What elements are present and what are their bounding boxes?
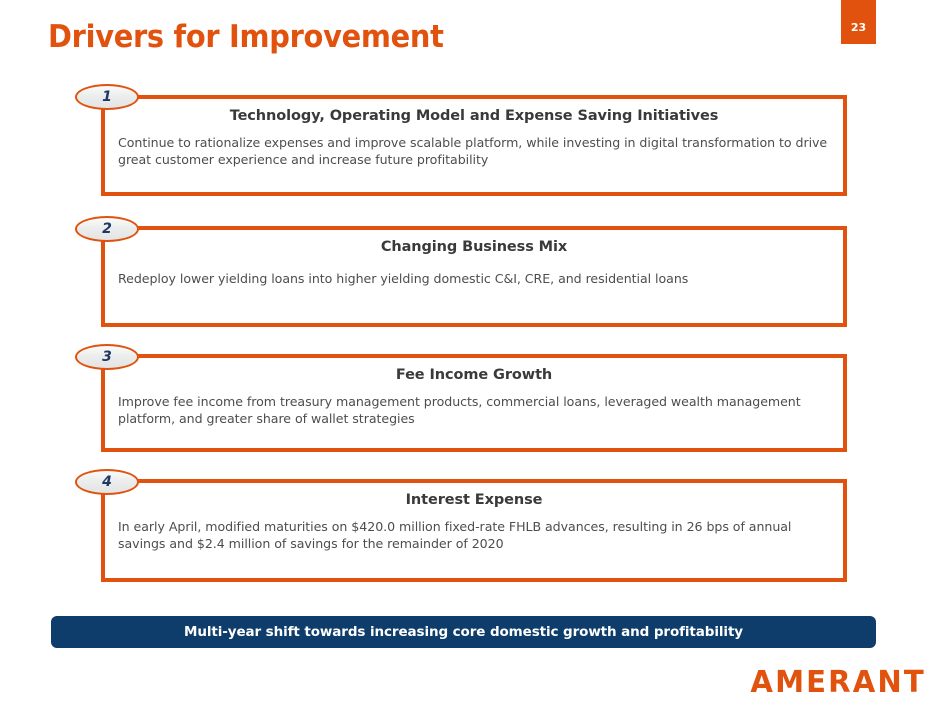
driver-box-1: Technology, Operating Model and Expense … xyxy=(101,95,847,196)
driver-number-oval-4: 4 xyxy=(75,469,139,495)
page-number-label: 23 xyxy=(851,21,866,34)
driver-number-label-4: 4 xyxy=(102,474,112,490)
driver-number-oval-3: 3 xyxy=(75,344,139,370)
driver-body-1: Continue to rationalize expenses and imp… xyxy=(105,135,843,168)
driver-number-oval-2: 2 xyxy=(75,216,139,242)
driver-box-3: Fee Income Growth Improve fee income fro… xyxy=(101,354,847,452)
driver-number-label-1: 1 xyxy=(102,89,112,105)
driver-box-4: Interest Expense In early April, modifie… xyxy=(101,479,847,582)
driver-body-4: In early April, modified maturities on $… xyxy=(105,519,843,552)
driver-number-oval-1: 1 xyxy=(75,84,139,110)
driver-heading-1: Technology, Operating Model and Expense … xyxy=(105,108,843,124)
driver-number-label-3: 3 xyxy=(102,349,112,365)
driver-heading-2: Changing Business Mix xyxy=(105,239,843,255)
driver-body-2: Redeploy lower yielding loans into highe… xyxy=(105,271,843,288)
page-number-badge: 23 xyxy=(841,0,876,44)
amerant-logo: AMERANT xyxy=(751,668,926,698)
driver-number-label-2: 2 xyxy=(102,221,112,237)
summary-banner-label: Multi-year shift towards increasing core… xyxy=(184,624,743,640)
page-title: Drivers for Improvement xyxy=(48,21,444,54)
driver-box-2: Changing Business Mix Redeploy lower yie… xyxy=(101,226,847,327)
driver-body-3: Improve fee income from treasury managem… xyxy=(105,394,843,427)
summary-banner: Multi-year shift towards increasing core… xyxy=(51,616,876,648)
driver-heading-4: Interest Expense xyxy=(105,492,843,508)
driver-heading-3: Fee Income Growth xyxy=(105,367,843,383)
